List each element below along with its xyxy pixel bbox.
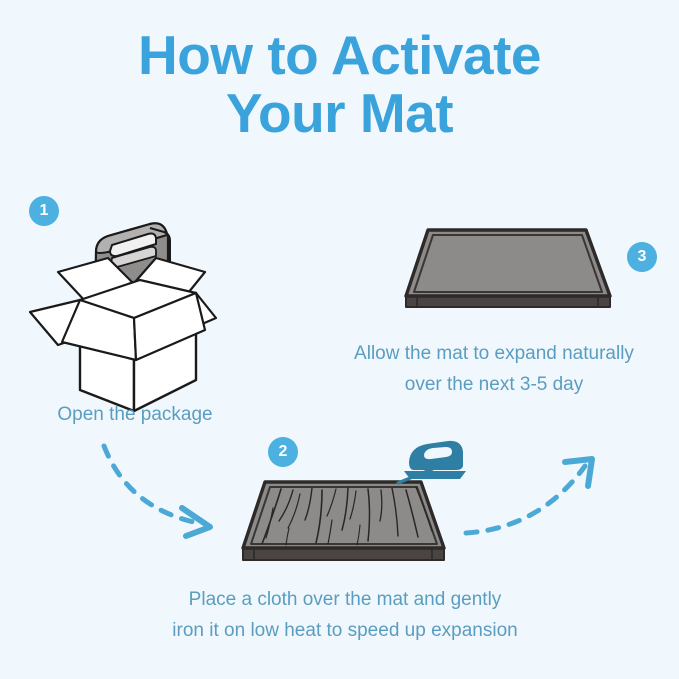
title-line-2: Your Mat [0, 84, 679, 142]
step-1-caption: Open the package [0, 399, 270, 430]
step-2-caption: Place a cloth over the mat and gently ir… [95, 584, 595, 646]
step-3-caption-line-1: Allow the mat to expand naturally [309, 338, 679, 369]
iron-icon [398, 441, 466, 483]
step-badge-2[interactable]: 2 [268, 437, 298, 467]
infographic-canvas: How to Activate Your Mat [0, 0, 679, 679]
step-2-caption-line-1: Place a cloth over the mat and gently [95, 584, 595, 615]
rolled-mat-in-box [95, 223, 170, 306]
step-badge-3[interactable]: 3 [627, 242, 657, 272]
dashed-curved-arrow-down-right [104, 446, 210, 536]
flat-mat-icon [406, 230, 610, 307]
title-line-1: How to Activate [0, 26, 679, 84]
step-badge-1[interactable]: 1 [29, 196, 59, 226]
step-1-caption-line-1: Open the package [57, 404, 212, 425]
step-3-caption-line-2: over the next 3-5 day [309, 369, 679, 400]
page-title: How to Activate Your Mat [0, 26, 679, 143]
cardboard-box-icon [30, 223, 216, 411]
step-3-caption: Allow the mat to expand naturally over t… [309, 338, 679, 400]
dashed-curved-arrow-up-right [466, 459, 592, 533]
cloth-covered-mat-icon [243, 482, 444, 560]
step-2-caption-line-2: iron it on low heat to speed up expansio… [95, 615, 595, 646]
